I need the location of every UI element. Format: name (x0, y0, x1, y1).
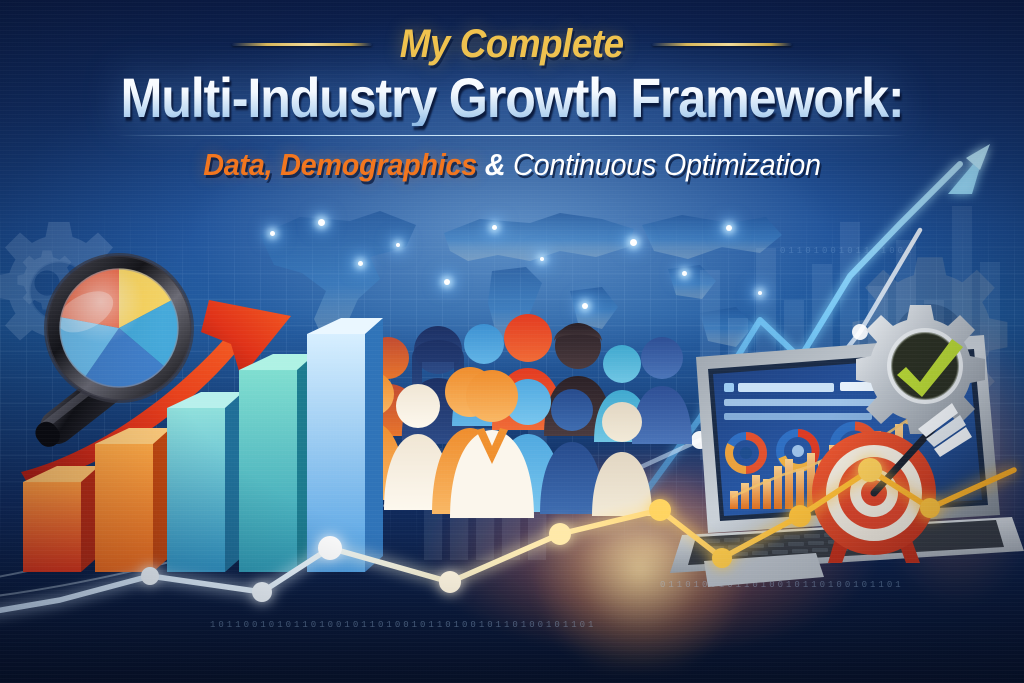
headline-block: My Complete Multi-Industry Growth Framew… (0, 22, 1024, 183)
title-divider (117, 135, 907, 136)
kicker-text: My Complete (400, 22, 624, 67)
gold-rule-right (652, 43, 792, 46)
subtitle-ampersand: & (485, 147, 506, 182)
subtitle-rest: Continuous Optimization (513, 147, 821, 182)
gold-rule-left (232, 43, 372, 46)
subtitle-highlight: Data, Demographics (203, 147, 477, 182)
page-title: Multi-Industry Growth Framework: (51, 69, 973, 126)
kicker-row: My Complete (0, 22, 1024, 67)
subtitle: Data, Demographics & Continuous Optimiza… (36, 147, 988, 183)
marketing-banner: 1011001010110100101101001011010010110100… (0, 0, 1024, 683)
